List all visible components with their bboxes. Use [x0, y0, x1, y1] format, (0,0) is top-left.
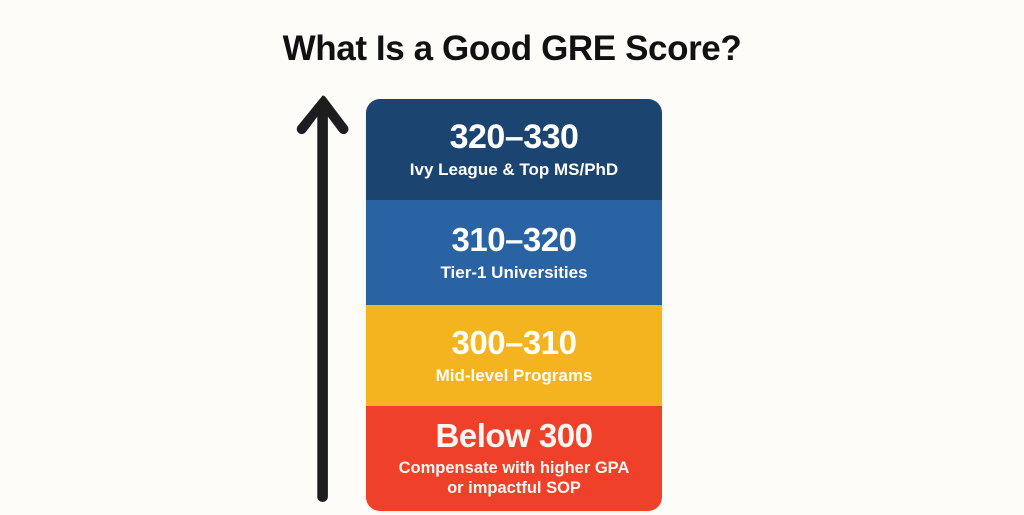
gre-score-infographic: What Is a Good GRE Score? 320–330 Ivy Le…: [0, 0, 1024, 512]
score-band-range: Below 300: [436, 418, 593, 455]
score-band-range: 320–330: [450, 118, 579, 156]
upward-arrow-icon: [296, 92, 350, 510]
score-band-caption-line: Tier-1 Universities: [440, 263, 587, 284]
score-band-caption-line: or impactful SOP: [399, 478, 630, 498]
score-band-caption-line: Ivy League & Top MS/PhD: [410, 160, 618, 181]
score-band-310-320[interactable]: 310–320 Tier-1 Universities: [366, 200, 662, 305]
score-band-range: 300–310: [452, 325, 577, 362]
score-band-below-300[interactable]: Below 300 Compensate with higher GPA or …: [366, 406, 662, 511]
score-band-caption-line: Mid-level Programs: [436, 366, 593, 387]
upward-arrow-svg: [296, 92, 350, 510]
score-band-300-310[interactable]: 300–310 Mid-level Programs: [366, 305, 662, 406]
score-band-caption-line: Compensate with higher GPA: [399, 458, 630, 478]
page-title: What Is a Good GRE Score?: [0, 28, 1024, 70]
score-band-320-330[interactable]: 320–330 Ivy League & Top MS/PhD: [366, 99, 662, 200]
score-band-ladder: 320–330 Ivy League & Top MS/PhD 310–320 …: [366, 99, 662, 511]
score-band-range: 310–320: [452, 222, 577, 259]
score-band-caption: Compensate with higher GPA or impactful …: [391, 458, 638, 498]
score-band-caption: Tier-1 Universities: [432, 263, 595, 284]
score-band-caption: Ivy League & Top MS/PhD: [402, 160, 626, 181]
score-band-caption: Mid-level Programs: [428, 366, 601, 387]
